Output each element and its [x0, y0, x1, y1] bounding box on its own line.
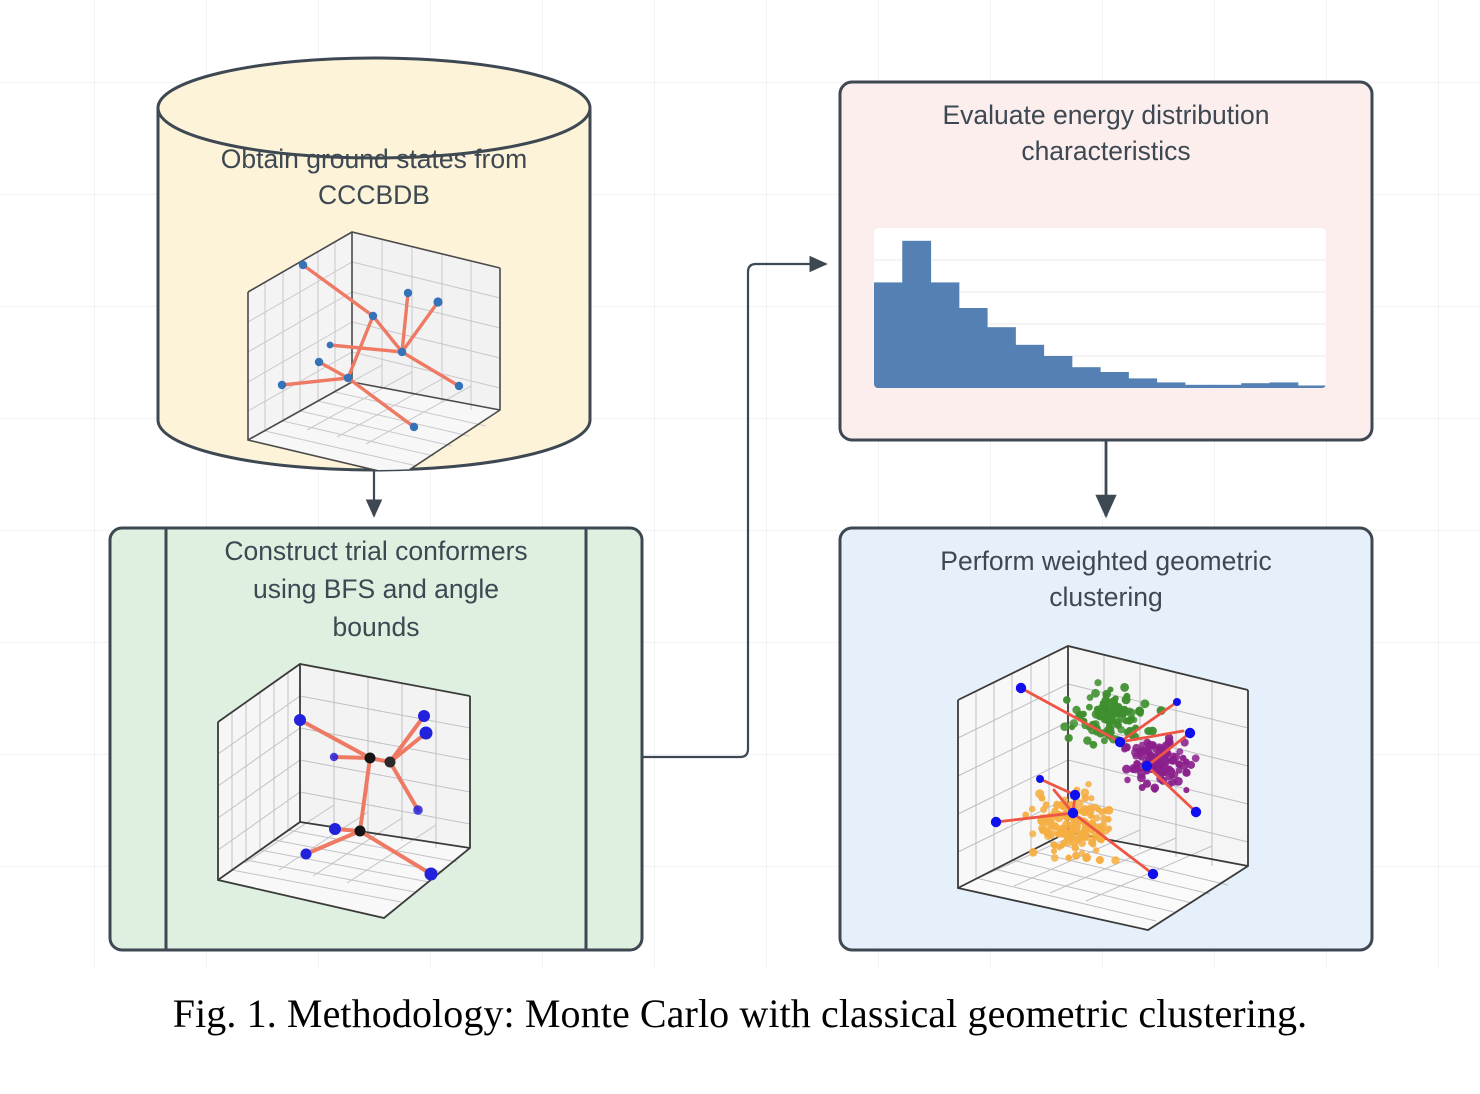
cluster-point — [1065, 734, 1073, 742]
histogram-bar — [931, 282, 960, 388]
cluster-point — [1051, 848, 1057, 854]
cluster-point — [1098, 704, 1106, 712]
cluster-point — [1105, 816, 1112, 823]
histogram-bar — [1100, 372, 1129, 388]
cluster-point — [1145, 727, 1153, 735]
cluster-point — [1039, 795, 1046, 802]
database-label-line2: CCCBDB — [318, 180, 430, 210]
cluster-point — [1124, 777, 1131, 784]
cluster-point — [1149, 741, 1157, 749]
construct-label-line3: bounds — [333, 612, 420, 642]
figure-caption: Fig. 1. Methodology: Monte Carlo with cl… — [0, 990, 1480, 1037]
cluster-point — [1060, 722, 1069, 731]
cluster-point — [1139, 784, 1146, 791]
histogram-bar — [874, 282, 903, 388]
cluster-point — [1187, 761, 1195, 769]
cluster-point — [1082, 853, 1091, 862]
cluster-point — [1059, 830, 1067, 838]
histogram-bar — [1128, 378, 1157, 388]
cluster-point — [1112, 695, 1118, 701]
histogram-bar — [1044, 356, 1073, 388]
histogram-bar — [1157, 382, 1186, 388]
cluster-point — [1096, 856, 1104, 864]
cluster-point — [1124, 745, 1130, 751]
cluster-point — [1172, 753, 1180, 761]
cluster-point — [1176, 767, 1183, 774]
cluster-point — [1129, 715, 1135, 721]
methodology-flowchart: Obtain ground states from CCCBDB — [0, 0, 1480, 1094]
obtain-ground-states-node[interactable]: Obtain ground states from CCCBDB — [158, 58, 590, 476]
cluster-point — [1183, 787, 1189, 793]
histogram-bar — [1213, 385, 1242, 388]
cluster-label-line2: clustering — [1049, 582, 1162, 612]
cluster-point — [1065, 854, 1072, 861]
cluster-point — [1088, 795, 1094, 801]
cluster-point — [1101, 737, 1108, 744]
cluster-point — [1087, 694, 1094, 701]
cluster-point — [1105, 806, 1114, 815]
cluster-point — [1140, 699, 1149, 708]
cluster-point — [1141, 747, 1148, 754]
cluster-point — [1106, 698, 1113, 705]
cluster-point — [1029, 806, 1036, 813]
histogram-bar — [959, 308, 988, 388]
cluster-point — [1090, 741, 1098, 749]
database-label-line1: Obtain ground states from — [221, 144, 527, 174]
cluster-point — [1029, 830, 1036, 837]
histogram-bar — [1241, 383, 1270, 388]
cluster-point — [1100, 715, 1108, 723]
cluster-point — [1192, 754, 1200, 762]
histogram-bar — [1185, 385, 1214, 388]
weighted-clustering-3d — [958, 646, 1248, 930]
cluster-point — [1074, 799, 1083, 808]
cluster-point — [1069, 719, 1078, 728]
histogram-bar — [1298, 386, 1327, 389]
cluster-point — [1174, 777, 1183, 786]
histogram-bar — [1072, 367, 1101, 388]
cluster-point — [1090, 841, 1096, 847]
cluster-point — [1051, 854, 1059, 862]
cluster-point — [1111, 856, 1119, 864]
cluster-point — [1086, 704, 1093, 711]
perform-clustering-node[interactable]: Perform weighted geometric clustering — [840, 528, 1372, 950]
histogram-bar — [987, 327, 1016, 388]
heavy-atom — [385, 757, 396, 768]
heavy-atom — [365, 753, 376, 764]
cluster-point — [1043, 801, 1050, 808]
cluster-point — [1115, 721, 1122, 728]
cluster-point — [1093, 847, 1099, 853]
cluster-point — [1132, 744, 1140, 752]
evaluate-label-line2: characteristics — [1021, 136, 1190, 166]
cluster-point — [1126, 707, 1133, 714]
cluster-point — [1169, 773, 1175, 779]
histogram-bar — [1015, 345, 1044, 388]
cluster-point — [1063, 696, 1071, 704]
construct-label-line1: Construct trial conformers — [224, 536, 527, 566]
cluster-point — [1059, 843, 1065, 849]
energy-distribution-histogram — [874, 228, 1327, 388]
cluster-point — [1082, 826, 1089, 833]
cluster-point — [1077, 833, 1084, 840]
cluster-point — [1080, 788, 1089, 797]
construct-label-line2: using BFS and angle — [253, 574, 499, 604]
cluster-point — [1120, 683, 1129, 692]
heavy-atom — [355, 826, 366, 837]
cluster-point — [1147, 751, 1154, 758]
cluster-point — [1150, 783, 1159, 792]
histogram-bar — [1270, 382, 1299, 388]
cluster-point — [1029, 848, 1038, 857]
cluster-point — [1102, 690, 1111, 699]
evaluate-energy-node[interactable]: Evaluate energy distribution characteris… — [840, 82, 1372, 440]
cluster-point — [1072, 852, 1080, 860]
evaluate-label-line1: Evaluate energy distribution — [942, 100, 1269, 130]
cluster-point — [1166, 766, 1173, 773]
histogram-bar — [902, 241, 931, 388]
cluster-point — [1051, 842, 1058, 849]
cluster-point — [1081, 808, 1089, 816]
cluster-point — [1093, 814, 1100, 821]
cluster-point — [1135, 707, 1144, 716]
cluster-point — [1070, 838, 1079, 847]
cluster-point — [1094, 679, 1101, 686]
cluster-point — [1161, 755, 1169, 763]
connector-construct-to-evaluate — [642, 264, 826, 757]
cluster-point — [1109, 729, 1115, 735]
cluster-label-line1: Perform weighted geometric — [940, 546, 1271, 576]
cluster-point — [1106, 706, 1115, 715]
cluster-point — [1122, 765, 1131, 774]
cluster-point — [1085, 781, 1091, 787]
cluster-point — [1123, 693, 1130, 700]
